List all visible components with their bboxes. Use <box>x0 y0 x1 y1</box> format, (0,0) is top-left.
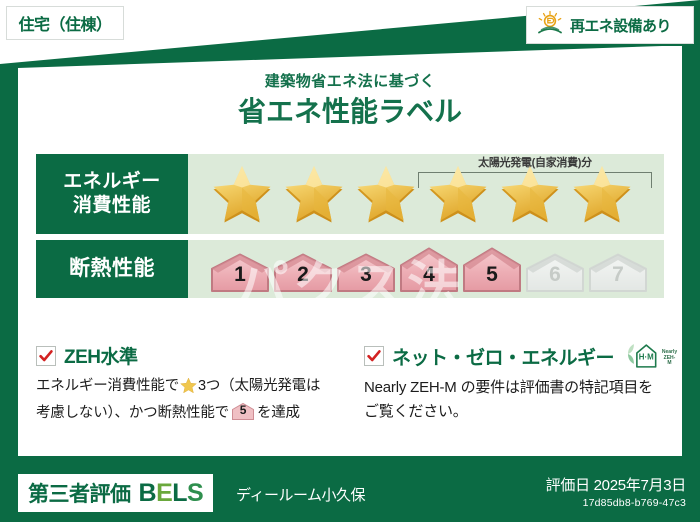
evaluation-date: 評価日 2025年7月3日 <box>546 474 686 495</box>
insulation-performance-label: 断熱性能 <box>36 240 188 298</box>
net-zero-title: ネット・ゼロ・エネルギー <box>392 343 614 370</box>
star-icon <box>354 163 418 225</box>
bels-certification-plate: 第三者評価 BELS <box>18 474 213 512</box>
label-frame: 住宅（住棟） 再エネ設備あり 建築物省エネ法に基づく 省エネ性能ラベ <box>0 0 700 522</box>
insulation-grade-value: 2 <box>273 263 333 287</box>
building-type-tag: 住宅（住棟） <box>6 6 124 40</box>
star-icon <box>570 163 634 225</box>
label-subtitle: 建築物省エネ法に基づく <box>18 70 682 91</box>
sun-solar-icon <box>535 10 565 41</box>
insulation-performance-body: 1 2 <box>188 240 664 298</box>
insulation-grade-value: 7 <box>588 263 648 287</box>
insulation-label-text: 断熱性能 <box>69 256 155 282</box>
page-title: 省エネ性能ラベル <box>18 90 682 130</box>
inline-grade-badge: 5 <box>231 402 255 421</box>
red-check-icon <box>36 346 56 366</box>
zeh-standard-title: ZEH水準 <box>64 342 138 369</box>
main-card: 建築物省エネ法に基づく 省エネ性能ラベル エネルギー 消費性能 太陽光発電(自家… <box>18 46 682 456</box>
energy-star-rating <box>210 163 634 225</box>
net-zero-description: Nearly ZEH-M の要件は評価書の特記項目をご覧ください。 <box>364 376 660 425</box>
zeh-standard-heading-row: ZEH水準 <box>36 342 332 369</box>
net-zero-heading-row: ネット・ゼロ・エネルギー H·M Nearly ZEH-M <box>364 342 660 370</box>
red-check-icon <box>364 346 384 366</box>
energy-performance-body: 太陽光発電(自家消費)分 <box>188 154 664 234</box>
building-type-label: 住宅（住棟） <box>18 11 111 35</box>
insulation-grade-badge: 4 <box>399 246 459 292</box>
star-icon <box>180 382 197 398</box>
insulation-grade-value: 1 <box>210 263 270 287</box>
evaluation-info: 評価日 2025年7月3日 17d85db8-b769-47c3 <box>546 474 686 509</box>
insulation-grade-badge: 7 <box>588 252 648 292</box>
star-icon <box>426 163 490 225</box>
insulation-grade-badge: 1 <box>210 252 270 292</box>
renewable-equipment-label: 再エネ設備あり <box>570 15 671 36</box>
insulation-grade-badge: 2 <box>273 252 333 292</box>
energy-performance-label: エネルギー 消費性能 <box>36 154 188 234</box>
zeh-m-caption-line2: ZEH-M <box>664 355 676 367</box>
insulation-performance-row: 断熱性能 1 <box>36 240 664 298</box>
insulation-grade-badge: 6 <box>525 252 585 292</box>
inline-grade-value: 5 <box>231 401 255 420</box>
bels-logo: BELS <box>139 479 204 508</box>
nearly-zeh-m-logo: H·M Nearly ZEH-M <box>626 342 677 370</box>
zeh-standard-block: ZEH水準 エネルギー消費性能で3つ（太陽光発電は考慮しない）、かつ断熱性能で5… <box>36 342 332 426</box>
net-zero-energy-block: ネット・ゼロ・エネルギー H·M Nearly ZEH-M Nearly ZEH… <box>364 342 660 425</box>
svg-text:H·M: H·M <box>639 352 654 361</box>
insulation-grade-value: 4 <box>399 263 459 287</box>
star-icon <box>282 163 346 225</box>
insulation-grade-value: 6 <box>525 263 585 287</box>
insulation-grade-badge: 3 <box>336 252 396 292</box>
zeh-desc-post: を達成 <box>257 405 300 421</box>
insulation-grade-value: 3 <box>336 263 396 287</box>
third-party-label: 第三者評価 <box>28 478 131 508</box>
zeh-standard-description: エネルギー消費性能で3つ（太陽光発電は考慮しない）、かつ断熱性能で5を達成 <box>36 375 332 426</box>
energy-label-line2: 消費性能 <box>73 194 151 218</box>
insulation-grade-badge: 5 <box>462 246 522 292</box>
energy-performance-row: エネルギー 消費性能 太陽光発電(自家消費)分 <box>36 154 664 234</box>
zeh-m-logo-caption: Nearly ZEH-M <box>662 350 678 370</box>
insulation-grade-scale: 1 2 <box>210 246 648 292</box>
building-name: ディールーム小久保 <box>236 484 365 505</box>
star-icon <box>210 163 274 225</box>
energy-label-line1: エネルギー <box>63 170 161 194</box>
footer-bar: 第三者評価 BELS ディールーム小久保 評価日 2025年7月3日 17d85… <box>0 466 700 522</box>
renewable-equipment-tag: 再エネ設備あり <box>526 6 694 44</box>
evaluation-id: 17d85db8-b769-47c3 <box>546 497 686 509</box>
insulation-grade-value: 5 <box>462 263 522 287</box>
star-icon <box>498 163 562 225</box>
zeh-desc-pre: エネルギー消費性能で <box>36 378 179 394</box>
